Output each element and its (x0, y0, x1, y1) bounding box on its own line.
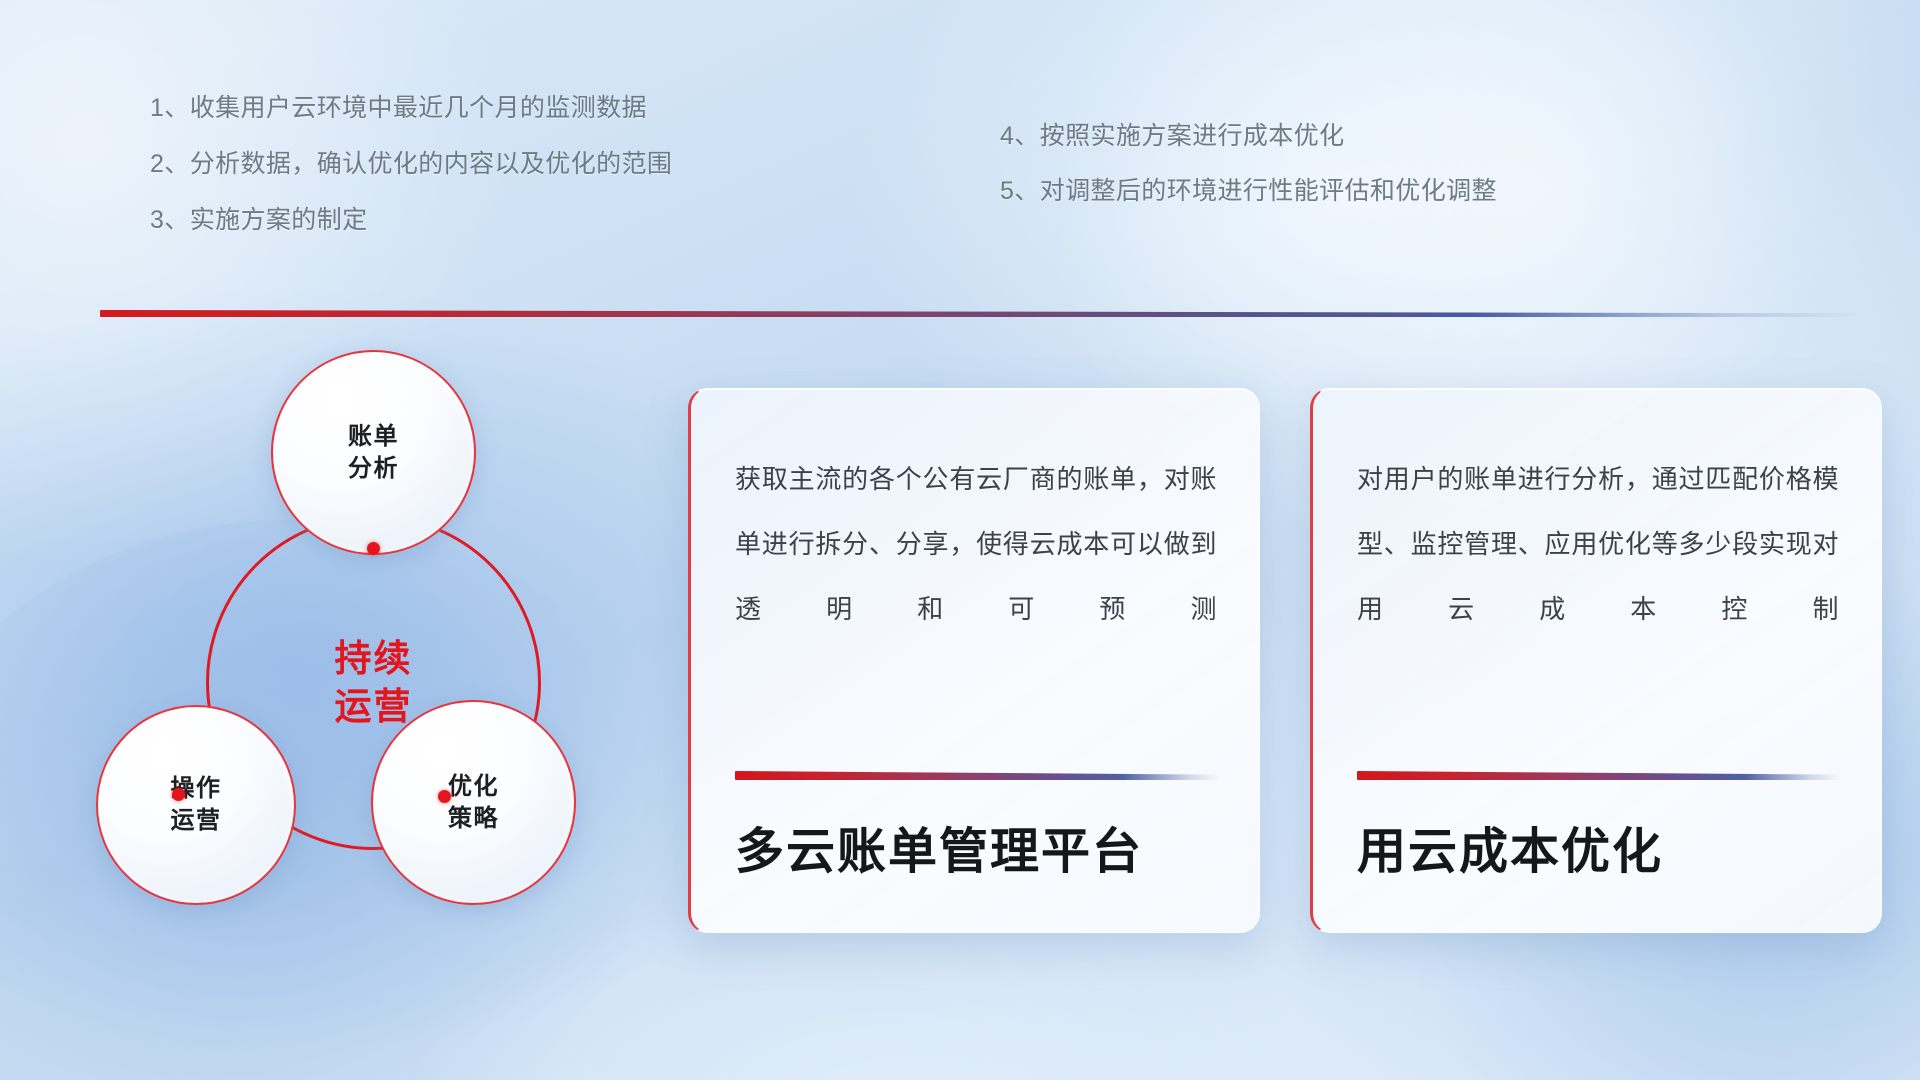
card-divider-rule (735, 771, 1219, 780)
card-multicloud-billing[interactable]: 获取主流的各个公有云厂商的账单，对账单进行拆分、分享，使得云成本可以做到透明和可… (688, 388, 1260, 933)
card-body-text: 对用户的账单进行分析，通过匹配价格模型、监控管理、应用优化等多少段实现对用云成本… (1357, 447, 1839, 642)
venn-node-label-line2: 运营 (171, 805, 222, 837)
card-title: 用云成本优化 (1357, 826, 1663, 880)
step-item-4: 4、按照实施方案进行成本优化 (1000, 124, 1497, 149)
card-body-text: 获取主流的各个公有云厂商的账单，对账单进行拆分、分享，使得云成本可以做到透明和可… (735, 447, 1217, 642)
venn-node-label-line2: 策略 (448, 803, 499, 835)
venn-node-bill-analysis[interactable]: 账单 分析 (271, 350, 476, 555)
venn-node-operations[interactable]: 操作 运营 (96, 705, 296, 905)
card-title: 多云账单管理平台 (735, 826, 1143, 880)
venn-center-label-line2: 运营 (335, 683, 413, 730)
step-item-3: 3、实施方案的制定 (150, 208, 672, 233)
venn-node-label-line1: 账单 (348, 421, 399, 453)
venn-junction-dot-top (367, 542, 380, 555)
steps-list-right: 4、按照实施方案进行成本优化 5、对调整后的环境进行性能评估和优化调整 (1000, 124, 1497, 234)
venn-diagram: 持续 运营 账单 分析 操作 运营 优化 策略 (96, 350, 616, 930)
venn-node-label-line1: 优化 (448, 771, 499, 803)
step-item-1: 1、收集用户云环境中最近几个月的监测数据 (150, 96, 672, 121)
step-item-2: 2、分析数据，确认优化的内容以及优化的范围 (150, 152, 672, 177)
venn-junction-dot-bottom-left (172, 788, 185, 801)
venn-junction-dot-bottom-right (438, 790, 451, 803)
venn-center-label-line1: 持续 (335, 635, 413, 682)
card-cloud-cost-optimization[interactable]: 对用户的账单进行分析，通过匹配价格模型、监控管理、应用优化等多少段实现对用云成本… (1310, 388, 1882, 933)
card-divider-rule (1357, 771, 1841, 780)
steps-list-left: 1、收集用户云环境中最近几个月的监测数据 2、分析数据，确认优化的内容以及优化的… (150, 96, 672, 264)
section-divider-rule (100, 310, 1860, 317)
venn-node-optimization-strategy[interactable]: 优化 策略 (371, 700, 576, 905)
venn-node-label-line2: 分析 (348, 453, 399, 485)
step-item-5: 5、对调整后的环境进行性能评估和优化调整 (1000, 179, 1497, 204)
slide-canvas: 1、收集用户云环境中最近几个月的监测数据 2、分析数据，确认优化的内容以及优化的… (0, 0, 1920, 1080)
